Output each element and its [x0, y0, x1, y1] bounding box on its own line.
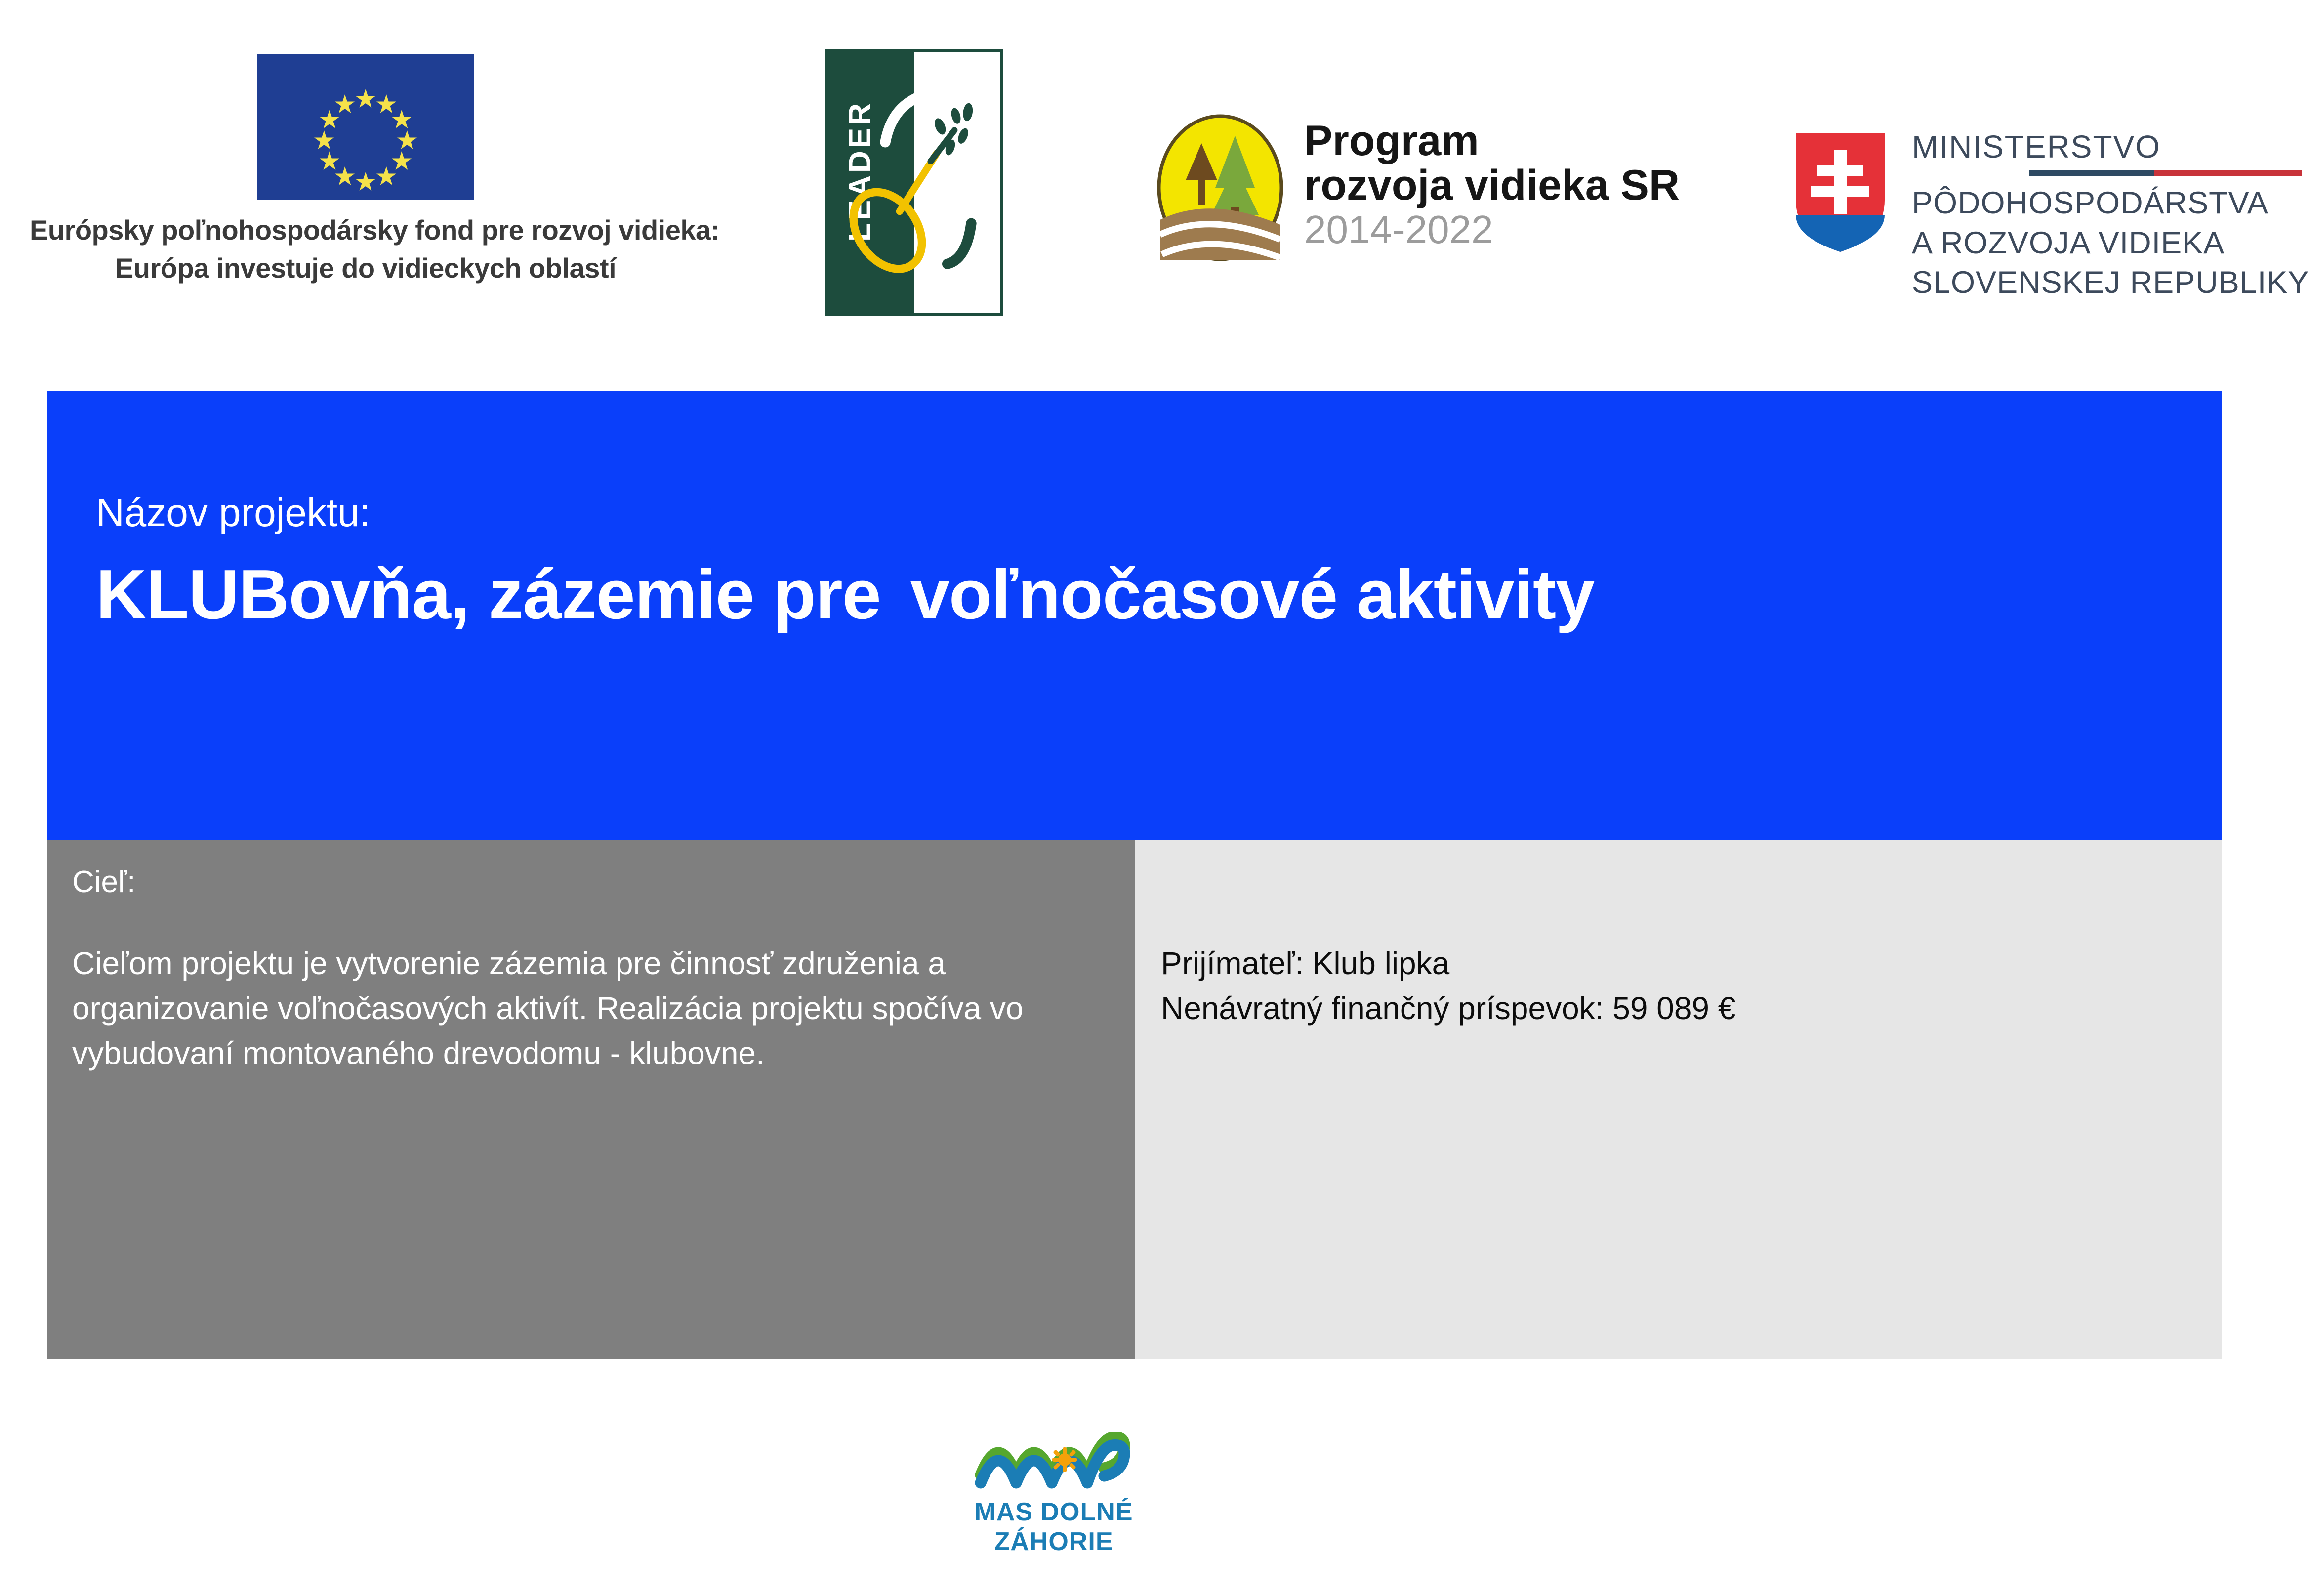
mas-sun-icon — [1052, 1447, 1077, 1472]
project-title-part2: voľnočasové aktivity — [910, 555, 1594, 634]
ministry-line4: SLOVENSKEJ REPUBLIKY — [1912, 263, 2309, 303]
grant-amount: Nenávratný finančný príspevok: 59 089 € — [1161, 986, 2179, 1031]
logo-bar: Európsky poľnohospodársky fond pre rozvo… — [0, 0, 2310, 375]
prv-line1: Program — [1304, 119, 1680, 163]
ministry-line2: PÔDOHOSPODÁRSTVA — [1912, 183, 2309, 223]
page-title: KLUBovňa, zázemie prevoľnočasové aktivit… — [96, 554, 2171, 635]
eu-logo-line2: Európa investuje do vidieckych oblastí — [30, 252, 701, 284]
goal-text: Cieľom projektu je vytvorenie zázemia pr… — [72, 941, 1095, 1076]
eu-stars-icon — [257, 54, 474, 200]
slovak-coat-of-arms-icon — [1793, 131, 1887, 254]
ministry-text-block: MINISTERSTVO PÔDOHOSPODÁRSTVA A ROZVOJA … — [1912, 128, 2309, 303]
mas-wave-icon — [970, 1423, 1138, 1497]
goal-label: Cieľ: — [72, 864, 135, 900]
eu-flag-icon — [257, 54, 474, 200]
ministry-tricolor-rule — [1912, 170, 2302, 176]
recipient-name: Prijímateľ: Klub lipka — [1161, 941, 2179, 986]
project-title-block: Názov projektu: KLUBovňa, zázemie prevoľ… — [47, 391, 2222, 840]
eu-logo-line1: Európsky poľnohospodársky fond pre rozvo… — [30, 214, 701, 246]
prv-emblem-icon — [1156, 114, 1284, 262]
prv-logo: Program rozvoja vidieka SR 2014-2022 — [1156, 114, 1739, 277]
goal-panel: Cieľ: Cieľom projektu je vytvorenie záze… — [47, 840, 1135, 1359]
ministry-logo: MINISTERSTVO PÔDOHOSPODÁRSTVA A ROZVOJA … — [1793, 131, 2307, 319]
leader-logo: LEADER — [825, 49, 1003, 316]
prv-line2: rozvoja vidieka SR — [1304, 163, 1680, 207]
project-title-part1: KLUBovňa, zázemie pre — [96, 555, 881, 634]
mas-dolne-zahorie-logo: MAS DOLNÉ ZÁHORIE — [933, 1423, 1175, 1541]
ministry-line1: MINISTERSTVO — [1912, 128, 2309, 165]
mas-wordmark: MAS DOLNÉ ZÁHORIE — [933, 1497, 1175, 1556]
recipient-panel: Prijímateľ: Klub lipka Nenávratný finanč… — [1135, 840, 2222, 1359]
ministry-line3: A ROZVOJA VIDIEKA — [1912, 223, 2309, 263]
project-title-label: Názov projektu: — [96, 490, 371, 535]
eu-fund-logo: Európsky poľnohospodársky fond pre rozvo… — [30, 54, 701, 284]
leader-leaf-icon — [828, 52, 1000, 313]
prv-text-block: Program rozvoja vidieka SR 2014-2022 — [1304, 119, 1680, 251]
prv-line3: 2014-2022 — [1304, 208, 1680, 251]
recipient-text-block: Prijímateľ: Klub lipka Nenávratný finanč… — [1161, 941, 2179, 1031]
